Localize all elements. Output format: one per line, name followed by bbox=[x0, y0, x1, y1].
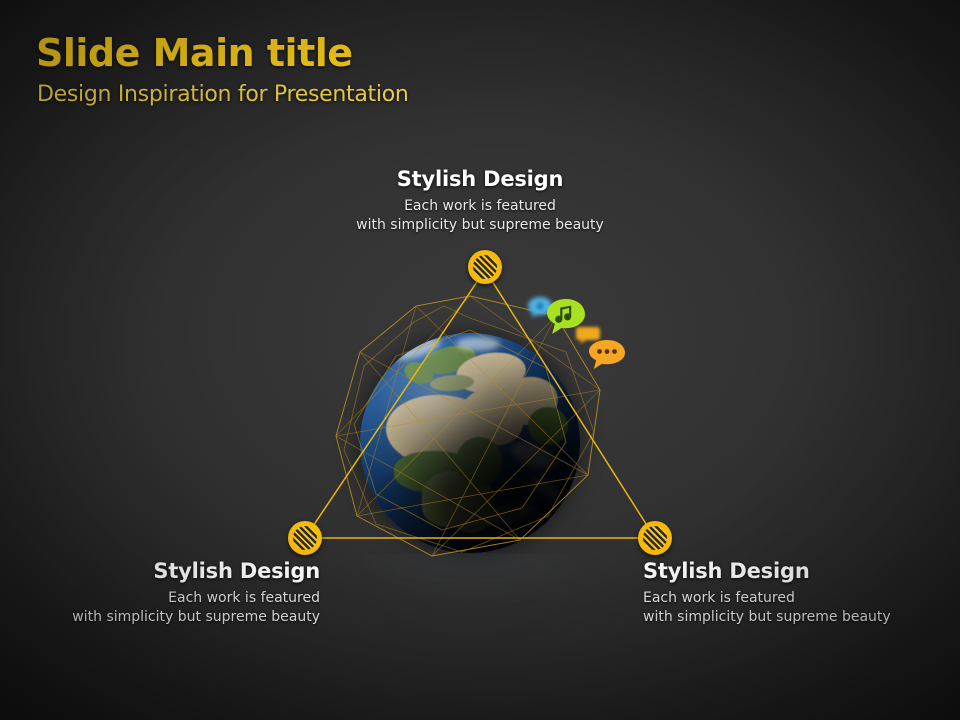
caption-top-line1: Each work is featured bbox=[404, 198, 556, 214]
caption-bottom-right-line2: with simplicity but supreme beauty bbox=[643, 609, 891, 625]
caption-bottom-left-line1: Each work is featured bbox=[168, 590, 320, 606]
caption-top-heading: Stylish Design bbox=[320, 168, 640, 191]
caption-bottom-left-line2: with simplicity but supreme beauty bbox=[72, 609, 320, 625]
caption-bottom-right-line1: Each work is featured bbox=[643, 590, 795, 606]
node-top[interactable] bbox=[468, 250, 502, 284]
caption-bottom-left-heading: Stylish Design bbox=[20, 560, 320, 583]
presentation-slide: Slide Main title Design Inspiration for … bbox=[0, 0, 960, 720]
hatched-circle-icon bbox=[293, 526, 317, 550]
caption-top: Stylish Design Each work is featured wit… bbox=[320, 168, 640, 235]
caption-bottom-right-heading: Stylish Design bbox=[643, 560, 943, 583]
caption-top-description: Each work is featured with simplicity bu… bbox=[320, 197, 640, 235]
hatched-circle-icon bbox=[643, 526, 667, 550]
title-block: Slide Main title Design Inspiration for … bbox=[36, 34, 636, 106]
page-title: Slide Main title bbox=[36, 34, 636, 72]
page-subtitle: Design Inspiration for Presentation bbox=[37, 84, 636, 106]
caption-bottom-left: Stylish Design Each work is featured wit… bbox=[20, 560, 320, 627]
music-bubble-green-icon bbox=[546, 298, 586, 335]
caption-bottom-left-description: Each work is featured with simplicity bu… bbox=[20, 589, 320, 627]
hatched-circle-icon bbox=[473, 255, 497, 279]
dots-bubble-orange-icon bbox=[588, 339, 626, 370]
node-bottom-left[interactable] bbox=[288, 521, 322, 555]
node-bottom-right[interactable] bbox=[638, 521, 672, 555]
caption-bottom-right: Stylish Design Each work is featured wit… bbox=[643, 560, 943, 627]
caption-bottom-right-description: Each work is featured with simplicity bu… bbox=[643, 589, 943, 627]
caption-top-line2: with simplicity but supreme beauty bbox=[356, 217, 604, 233]
